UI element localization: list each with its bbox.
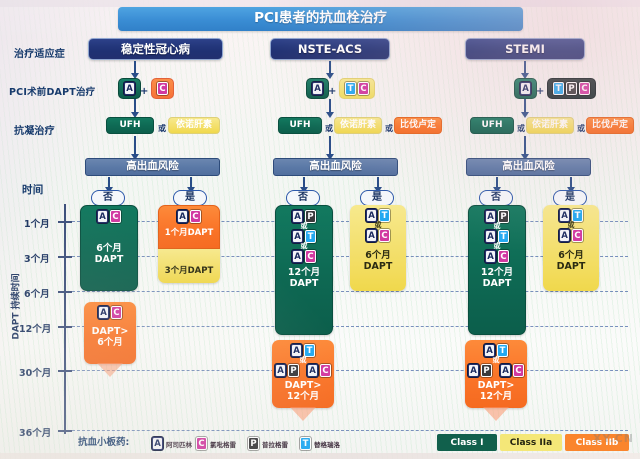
chip-A: A (275, 364, 286, 377)
pre-pci-col3-p2y12-options: T P C (547, 78, 596, 99)
ytick-label-3m: 3个月 (24, 251, 50, 265)
chip-C: C (110, 210, 121, 223)
chip-A: A (152, 437, 163, 450)
chips-row: A P A C (275, 364, 331, 377)
or-label: 或 (493, 357, 500, 364)
block-label: DAPT> 12个月 (285, 380, 322, 403)
photo-edge-top (0, 0, 640, 7)
chip-T: T (300, 437, 311, 450)
anticoag-col1-or: 或 (158, 123, 166, 134)
block-label: 6个月 DAPT (95, 243, 124, 266)
block-col3-no-dapt-gt-12m: A T 或 A P A C DAPT> 12个月 (465, 340, 527, 408)
row-label-anticoag: 抗凝治疗 (14, 122, 55, 137)
row-label-time: 时间 (22, 182, 43, 197)
chip-A: A (124, 82, 135, 95)
legend-drug-name: 阿司匹林 (166, 439, 192, 449)
chip-C: C (358, 82, 369, 95)
chip-C: C (190, 210, 201, 223)
connector-col2-yes (377, 177, 379, 188)
chip-P: P (288, 364, 299, 377)
anticoag-col2-ufh: UFH (278, 117, 322, 134)
legend-class-2a: Class IIa (500, 434, 562, 451)
arrow-col1-no-continue (97, 363, 123, 377)
chip-C: C (579, 82, 590, 95)
chip-A: A (468, 364, 479, 377)
arrow-col3-no-continue (483, 407, 509, 421)
chip-A: A (98, 306, 109, 319)
pre-pci-col1-aspirin: A (118, 78, 141, 99)
chip-A: A (366, 229, 377, 242)
anticoag-col2-or-1: 或 (325, 123, 333, 134)
chip-C: C (498, 250, 509, 263)
branch-col1-yes: 是 (173, 190, 207, 206)
or-label: 或 (301, 243, 308, 250)
chips-row: A C (292, 250, 316, 263)
pre-pci-col3-plus: + (536, 86, 544, 97)
chip-A: A (177, 210, 188, 223)
ytick-label-1m: 1个月 (24, 216, 50, 230)
row-label-indication: 治疗适应症 (14, 45, 65, 60)
chip-C: C (196, 437, 207, 450)
tick-1m (58, 221, 72, 223)
block-col2-no-dapt-gt-12m: A T 或 A P A C DAPT> 12个月 (272, 340, 334, 408)
legend-drug-name: 氯吡格雷 (210, 439, 236, 449)
connector-col2-no (303, 177, 305, 188)
block-label: 1个月DAPT (165, 228, 214, 238)
legend-drug-clopidogrel: C 氯吡格雷 (196, 437, 236, 450)
bleeding-risk-col3: 高出血风险 (466, 158, 591, 176)
block-label: DAPT> 12个月 (478, 380, 515, 403)
gridline-12m (72, 326, 628, 327)
legend-title: 抗血小板药: (78, 434, 129, 448)
legend-drug-aspirin: A 阿司匹林 (152, 437, 192, 450)
chips-row: A C (366, 229, 390, 242)
block-col1-yes-1m-dapt: A C 1个月DAPT (158, 205, 220, 249)
pre-pci-col3-aspirin: A (514, 78, 537, 99)
connector-col1-yes (190, 177, 192, 188)
block-col3-no-12m-dapt: A P 或 A T 或 A C 12个月 DAPT (468, 205, 526, 335)
chips-row: A C (97, 210, 121, 223)
arrow-col2-no-continue (290, 407, 316, 421)
chip-P: P (481, 364, 492, 377)
photo-edge-bottom (0, 453, 640, 459)
chips-row: A C (177, 210, 201, 223)
column-header-nste-acs: NSTE-ACS (270, 38, 390, 60)
anticoag-col3-ufh: UFH (470, 117, 514, 134)
chip-A: A (485, 250, 496, 263)
connector-col2-header (329, 61, 331, 74)
branch-col2-yes: 是 (360, 190, 394, 206)
chip-C: C (111, 306, 122, 319)
ytick-label-30m: 30个月 (19, 365, 51, 379)
block-col2-no-12m-dapt: A P 或 A T 或 A C 12个月 DAPT (275, 205, 333, 335)
chip-P: P (566, 82, 577, 95)
connector-col3-anticoag (524, 136, 526, 155)
bleeding-risk-col1: 高出血风险 (85, 158, 220, 176)
chip-A: A (520, 82, 531, 95)
tick-30m (58, 370, 72, 372)
chip-A: A (500, 364, 511, 377)
or-label: 或 (375, 222, 382, 229)
chip-P: P (248, 437, 259, 450)
connector-col3-no (496, 177, 498, 188)
anticoag-col1-enoxaparin: 依诺肝素 (168, 117, 220, 134)
tick-36m (58, 430, 72, 432)
column-header-stemi: STEMI (465, 38, 585, 60)
timeline-axis (64, 204, 66, 434)
connector-col2-anticoag (329, 136, 331, 155)
anticoag-col3-enoxaparin: 依诺肝素 (526, 117, 574, 134)
anticoag-col2-bivalirudin: 比伐卢定 (394, 117, 442, 134)
anticoag-col2-or-2: 或 (385, 123, 393, 134)
watermark: XY.CN (593, 432, 634, 445)
legend-drug-ticagrelor: T 替格瑞洛 (300, 437, 340, 450)
legend-drug-name: 普拉格雷 (262, 439, 288, 449)
ytick-label-6m: 6个月 (24, 286, 50, 300)
chips-row: A C (559, 229, 583, 242)
pre-pci-col2-aspirin: A (306, 78, 329, 99)
connector-col1-no (108, 177, 110, 188)
chips-row: A C (98, 306, 122, 319)
block-label: 6个月 DAPT (557, 250, 586, 273)
chip-A: A (97, 210, 108, 223)
chip-A: A (559, 229, 570, 242)
pre-pci-col1-plus: + (140, 86, 148, 97)
gridline-30m (72, 370, 628, 371)
or-label: 或 (568, 222, 575, 229)
chip-T: T (553, 82, 564, 95)
branch-col3-no: 否 (479, 190, 513, 206)
column-header-stable-cad: 稳定性冠心病 (88, 38, 223, 60)
branch-col1-no: 否 (91, 190, 125, 206)
block-col1-no-dapt-gt-6m: A C DAPT> 6个月 (84, 302, 136, 364)
page-title: PCI患者的抗血栓治疗 (118, 7, 523, 31)
chip-C: C (379, 229, 390, 242)
gridline-6m (72, 291, 628, 292)
branch-col2-no: 否 (286, 190, 320, 206)
legend-drug-prasugrel: P 普拉格雷 (248, 437, 288, 450)
anticoag-col3-or-2: 或 (577, 123, 585, 134)
block-col1-yes-3m-dapt: 3个月DAPT (158, 249, 220, 283)
or-label: 或 (494, 223, 501, 230)
connector-col1-anticoag (134, 136, 136, 155)
block-label: 12个月 DAPT (481, 267, 513, 290)
chip-T: T (345, 82, 356, 95)
chips-row: A P A C (468, 364, 524, 377)
legend-class-1: Class I (437, 434, 497, 451)
block-col1-no-6m-dapt: A C 6个月 DAPT (80, 205, 138, 291)
chip-A: A (312, 82, 323, 95)
chip-A: A (307, 364, 318, 377)
connector-col1-dapt (134, 99, 136, 113)
anticoag-col2-enoxaparin: 依诺肝素 (334, 117, 382, 134)
pre-pci-col1-clopidogrel: C (151, 78, 174, 99)
connector-col1-header (134, 61, 136, 74)
or-label: 或 (494, 243, 501, 250)
connector-col3-header (524, 61, 526, 74)
chip-C: C (305, 250, 316, 263)
or-label: 或 (301, 223, 308, 230)
chip-A: A (292, 250, 303, 263)
ytick-label-12m: 12个月 (19, 321, 51, 335)
slide-canvas: PCI患者的抗血栓治疗 治疗适应症 PCI术前DAPT治疗 抗凝治疗 时间 稳定… (0, 0, 640, 459)
connector-col3-yes (570, 177, 572, 188)
chip-C: C (157, 82, 168, 95)
pre-pci-col2-p2y12-options: T C (339, 78, 375, 99)
anticoag-col3-or-1: 或 (517, 123, 525, 134)
bleeding-risk-col2: 高出血风险 (273, 158, 398, 176)
or-label: 或 (300, 357, 307, 364)
legend-drug-name: 替格瑞洛 (314, 439, 340, 449)
chip-C: C (320, 364, 331, 377)
block-col3-yes-6m-dapt: A T 或 A C 6个月 DAPT (543, 205, 599, 291)
gridline-36m (72, 430, 628, 431)
chips-row: A C (485, 250, 509, 263)
anticoag-col3-bivalirudin: 比伐卢定 (586, 117, 634, 134)
ytick-label-36m: 36个月 (19, 425, 51, 439)
tick-6m (58, 291, 72, 293)
row-label-pre-pci-dapt: PCI术前DAPT治疗 (9, 84, 95, 98)
connector-col2-dapt (329, 99, 331, 113)
connector-col3-dapt (524, 99, 526, 113)
pre-pci-col2-plus: + (328, 86, 336, 97)
block-label: 3个月DAPT (165, 266, 214, 276)
chip-C: C (513, 364, 524, 377)
branch-col3-yes: 是 (553, 190, 587, 206)
block-label: DAPT> 6个月 (92, 326, 129, 349)
tick-12m (58, 326, 72, 328)
block-label: 12个月 DAPT (288, 267, 320, 290)
anticoag-col1-ufh: UFH (106, 117, 154, 134)
block-col2-yes-6m-dapt: A T 或 A C 6个月 DAPT (350, 205, 406, 291)
chip-C: C (572, 229, 583, 242)
tick-3m (58, 256, 72, 258)
block-label: 6个月 DAPT (364, 250, 393, 273)
